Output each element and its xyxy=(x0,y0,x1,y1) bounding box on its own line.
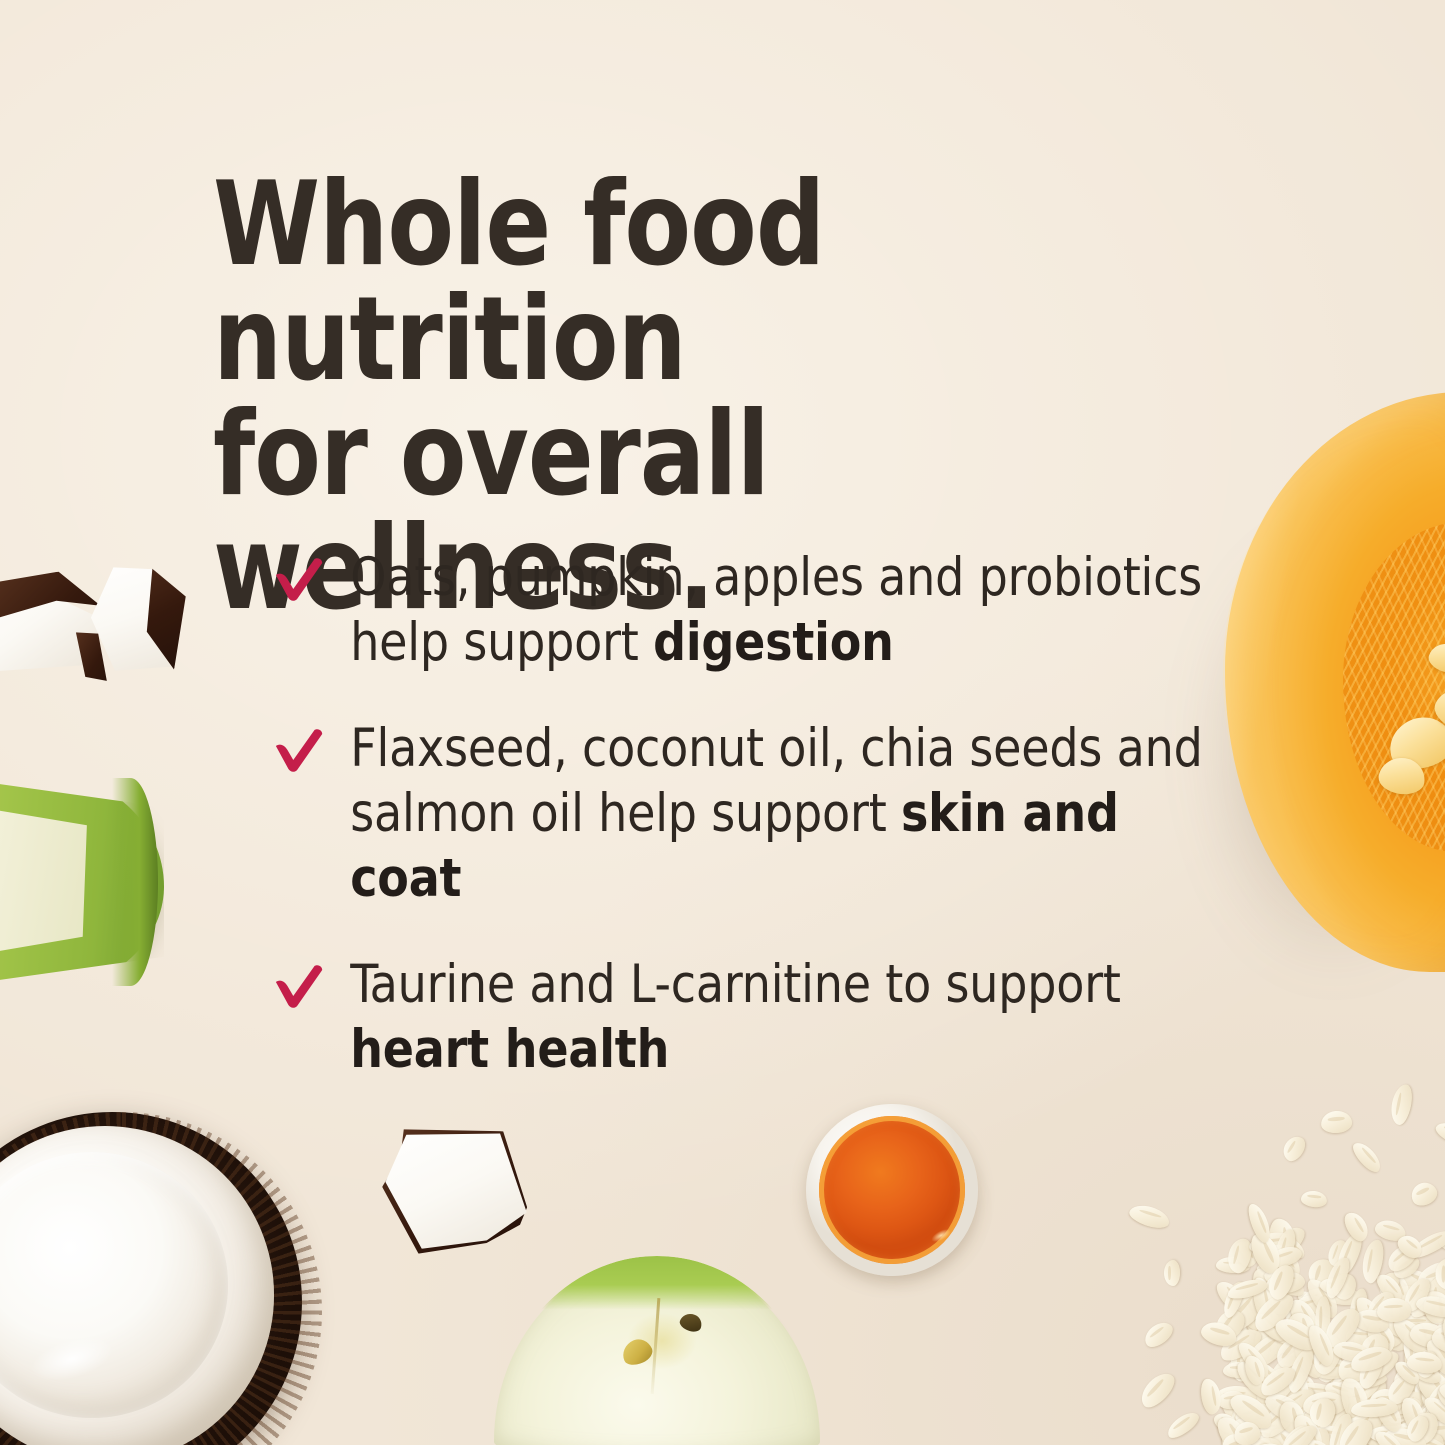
coconut-chunk-photo xyxy=(378,1123,533,1261)
check-icon xyxy=(273,556,325,602)
oat-flake xyxy=(1320,1110,1353,1135)
oat-flake xyxy=(1388,1083,1414,1127)
product-benefits-poster: Whole food nutrition for overall wellnes… xyxy=(0,0,1445,1445)
oat-flake xyxy=(1164,1408,1203,1442)
oat-flake xyxy=(1164,1260,1180,1286)
apple-core xyxy=(614,1302,710,1380)
oat-flake xyxy=(1376,1297,1411,1322)
coconut-flesh xyxy=(378,1123,533,1261)
check-icon xyxy=(273,963,325,1009)
oat-flake xyxy=(1340,1208,1372,1244)
apple-half-photo xyxy=(494,1258,834,1445)
salmon-oil-bowl-photo xyxy=(806,1104,978,1276)
rolled-oats-photo xyxy=(1135,1087,1445,1445)
oat-flake xyxy=(1199,1377,1224,1416)
benefit-emphasis: heart health xyxy=(350,1019,669,1080)
apple-wedge-rim xyxy=(112,778,158,986)
oat-flake xyxy=(1349,1138,1385,1175)
oat-flake xyxy=(1140,1318,1176,1352)
benefit-text: Taurine and L-carnitine to support xyxy=(350,954,1121,1015)
benefits-list: Oats, pumpkin, apples and probiotics hel… xyxy=(273,546,1253,1083)
benefit-item-heart-health: Taurine and L-carnitine to support heart… xyxy=(273,953,1219,1082)
oat-flake xyxy=(1407,1178,1440,1209)
pumpkin-half-photo xyxy=(1225,392,1445,972)
oat-flake xyxy=(1433,1119,1445,1147)
benefit-emphasis: digestion xyxy=(653,612,894,673)
check-icon xyxy=(273,727,325,773)
pumpkin-pulp xyxy=(1343,522,1445,852)
text-content: Whole food nutrition for overall wellnes… xyxy=(213,168,1223,627)
oat-flake xyxy=(1300,1190,1328,1209)
oil-meniscus xyxy=(819,1116,965,1264)
oat-flake xyxy=(1127,1201,1172,1231)
apple-wedge-photo xyxy=(0,772,164,992)
oat-flake xyxy=(1279,1132,1309,1164)
oat-flake xyxy=(1135,1368,1179,1413)
coconut-half-photo xyxy=(0,1112,322,1445)
pumpkin-seed-cavity xyxy=(1343,522,1445,852)
benefit-item-skin-and-coat: Flaxseed, coconut oil, chia seeds and sa… xyxy=(273,717,1219,911)
benefit-item-digestion: Oats, pumpkin, apples and probiotics hel… xyxy=(273,546,1219,675)
